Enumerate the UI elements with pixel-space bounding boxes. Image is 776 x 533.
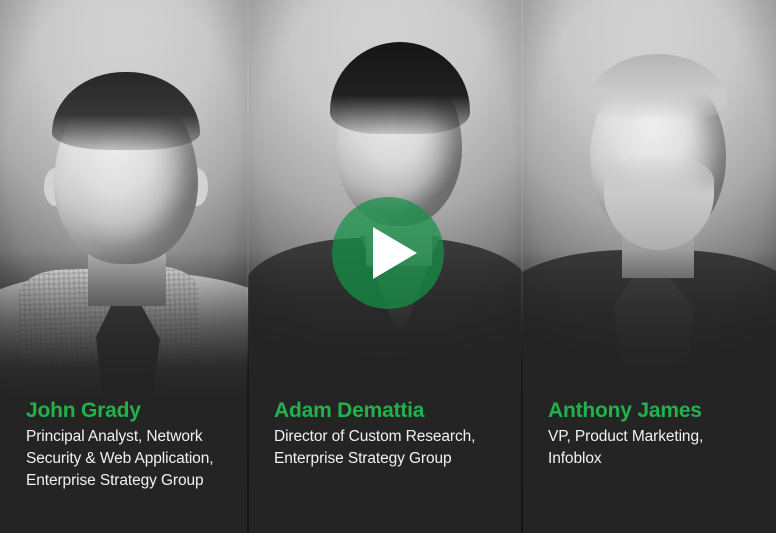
speaker-card-anthony-james[interactable]: Anthony James VP, Product Marketing, Inf… <box>522 0 776 533</box>
speaker-caption: Adam Demattia Director of Custom Researc… <box>274 398 508 470</box>
speaker-photo-john-grady <box>0 0 248 400</box>
speaker-role-line: VP, Product Marketing, <box>548 426 762 448</box>
speaker-caption: Anthony James VP, Product Marketing, Inf… <box>548 398 762 470</box>
speaker-caption: John Grady Principal Analyst, Network Se… <box>26 398 234 492</box>
portrait-figure <box>522 0 776 400</box>
speaker-photo-anthony-james <box>522 0 776 400</box>
play-icon <box>373 227 417 279</box>
speaker-name: Anthony James <box>548 398 762 424</box>
speaker-name: Adam Demattia <box>274 398 508 424</box>
portrait-figure <box>0 0 248 400</box>
speaker-role-line: Director of Custom Research, <box>274 426 508 448</box>
portrait-hair <box>52 72 200 150</box>
portrait-beard <box>604 158 714 250</box>
video-play-button[interactable] <box>332 197 444 309</box>
portrait-hair <box>588 54 728 118</box>
speaker-panel-group: John Grady Principal Analyst, Network Se… <box>0 0 776 533</box>
speaker-name: John Grady <box>26 398 234 424</box>
portrait-hair <box>330 42 470 134</box>
speaker-role-line: Enterprise Strategy Group <box>26 470 234 492</box>
speaker-role-line: Enterprise Strategy Group <box>274 448 508 470</box>
speaker-role: Principal Analyst, Network Security & We… <box>26 426 234 492</box>
speaker-role-line: Principal Analyst, Network <box>26 426 234 448</box>
speaker-role-line: Security & Web Application, <box>26 448 234 470</box>
speaker-card-john-grady[interactable]: John Grady Principal Analyst, Network Se… <box>0 0 248 533</box>
speaker-role: VP, Product Marketing, Infoblox <box>548 426 762 470</box>
speaker-role-line: Infoblox <box>548 448 762 470</box>
speaker-role: Director of Custom Research, Enterprise … <box>274 426 508 470</box>
